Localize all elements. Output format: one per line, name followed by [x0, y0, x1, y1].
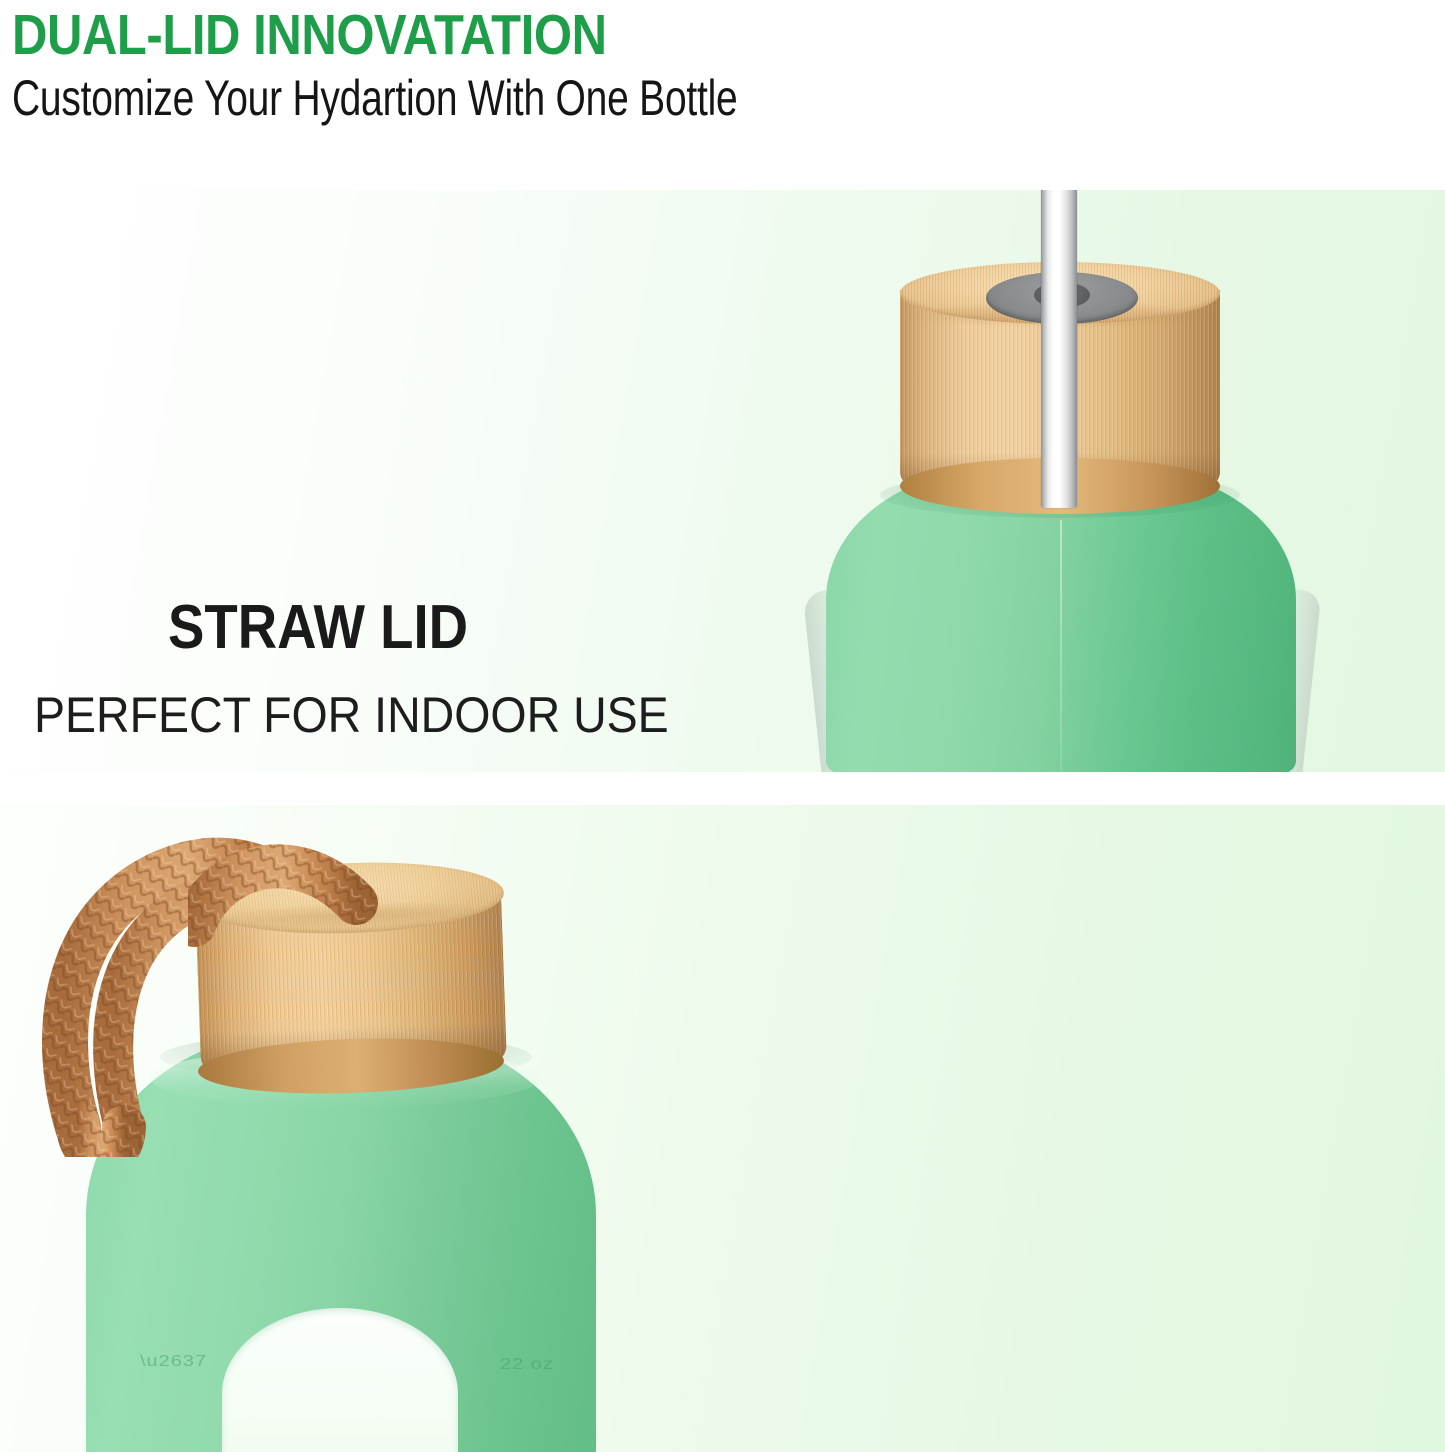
straw-lid-subtitle: PERFECT FOR INDOOR USE [34, 687, 669, 743]
panel-bamboo-strap-lid: \u2637 22 oz [0, 805, 1445, 1452]
strap-over-lid-segment [188, 833, 408, 953]
page-headline: DUAL-LID INNOVATATION [12, 4, 786, 66]
panel-divider [0, 772, 1445, 805]
sleeve-emboss-logo: \u2637 [140, 1352, 207, 1370]
sleeve-emboss-capacity: 22 oz [500, 1355, 554, 1373]
page-subheadline: Customize Your Hydartion With One Bottle [12, 70, 792, 126]
bottle-with-strap-lid: \u2637 22 oz [0, 805, 1445, 1452]
panel-straw-lid: STRAW LID PERFECT FOR INDOOR USE [0, 190, 1445, 772]
sleeve-seam-line [1060, 520, 1062, 772]
bottle-with-straw-lid [0, 190, 1445, 772]
product-infographic: DUAL-LID INNOVATATION Customize Your Hyd… [0, 0, 1445, 1452]
drinking-straw [1041, 190, 1077, 508]
straw-lid-title: STRAW LID [168, 595, 468, 661]
